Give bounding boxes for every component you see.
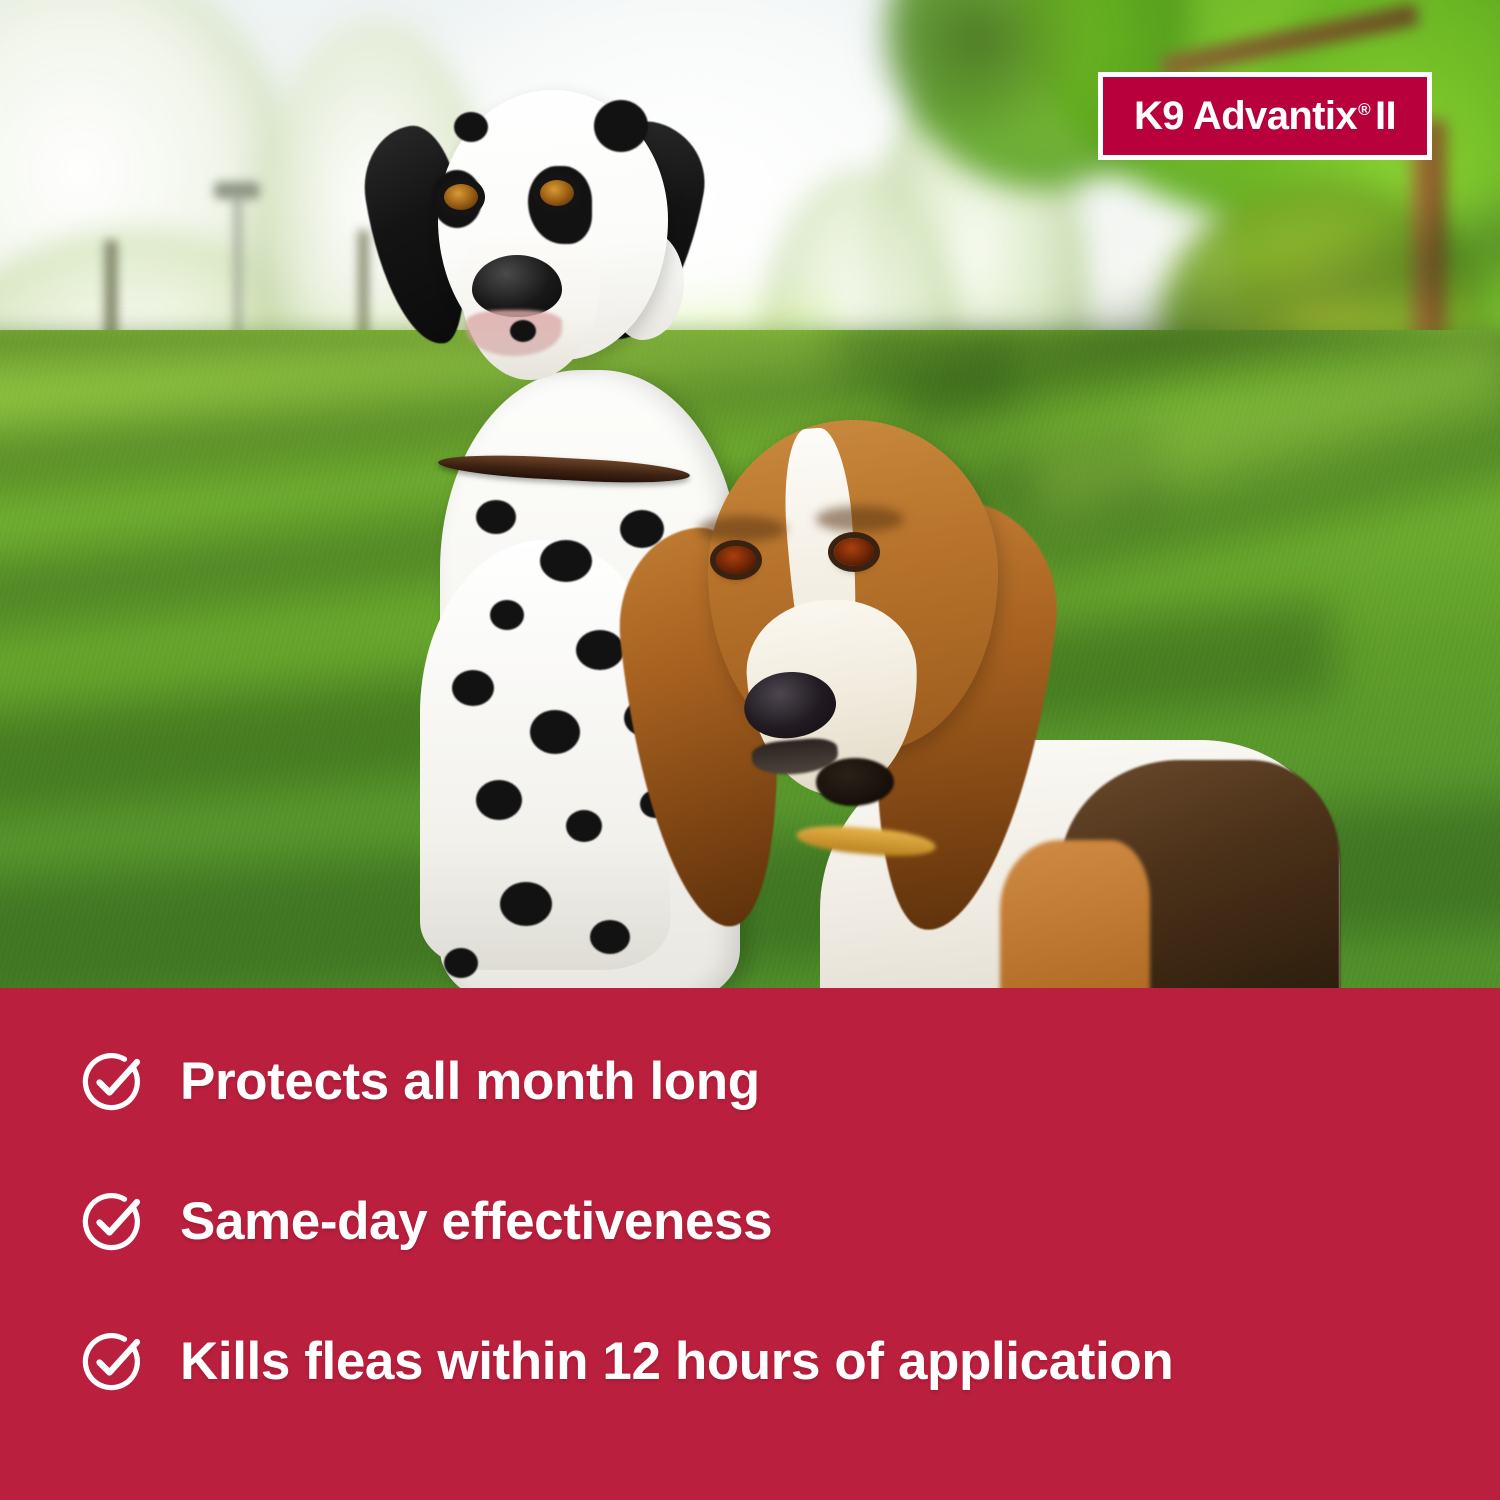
basset-brow-left bbox=[698, 516, 786, 542]
registered-trademark-icon: ® bbox=[1358, 100, 1370, 119]
dalmatian-spot bbox=[540, 540, 592, 582]
check-circle-icon bbox=[80, 1329, 146, 1395]
basset-body-tan-patch bbox=[1000, 840, 1150, 988]
dalmatian-eye-left bbox=[444, 184, 478, 210]
benefit-text: Protects all month long bbox=[180, 1054, 760, 1110]
dalmatian-head-spot bbox=[594, 100, 648, 152]
basset-brow-right bbox=[816, 506, 904, 532]
dalmatian-spot bbox=[566, 810, 602, 842]
dalmatian-muzzle-spot bbox=[510, 320, 536, 342]
dalmatian-eye-right bbox=[540, 180, 574, 206]
dalmatian-spot bbox=[576, 630, 624, 670]
brand-name: K9 Advantix bbox=[1134, 94, 1357, 138]
brand-logo-badge: K9 Advantix®II bbox=[1098, 72, 1432, 160]
brand-logo-text: K9 Advantix®II bbox=[1134, 96, 1396, 136]
dalmatian-spot bbox=[530, 710, 580, 754]
dalmatian-head-spot bbox=[454, 112, 488, 142]
dalmatian-spot bbox=[476, 780, 522, 820]
dalmatian-spot bbox=[500, 882, 552, 926]
benefit-text: Kills fleas within 12 hours of applicati… bbox=[180, 1334, 1173, 1390]
dalmatian-nose bbox=[472, 255, 562, 317]
benefit-item: Kills fleas within 12 hours of applicati… bbox=[80, 1292, 1480, 1432]
benefits-banner: Protects all month long Same-day effecti… bbox=[0, 988, 1500, 1500]
product-marketing-image: K9 Advantix®II Protects all month long bbox=[0, 0, 1500, 1500]
light-pole-lamp bbox=[214, 182, 260, 199]
dalmatian-spot bbox=[476, 500, 516, 534]
brand-version: II bbox=[1375, 94, 1396, 138]
basset-eye-right bbox=[834, 538, 874, 566]
basset-eye-left bbox=[716, 546, 756, 574]
benefit-item: Protects all month long bbox=[80, 1012, 1480, 1152]
dalmatian-spot bbox=[490, 600, 524, 630]
check-circle-icon bbox=[80, 1189, 146, 1255]
dalmatian-spot bbox=[444, 948, 478, 978]
benefit-text: Same-day effectiveness bbox=[180, 1194, 772, 1250]
benefit-item: Same-day effectiveness bbox=[80, 1152, 1480, 1292]
basset-hound-dog bbox=[620, 410, 1320, 988]
hero-photo: K9 Advantix®II bbox=[0, 0, 1500, 988]
benefits-list: Protects all month long Same-day effecti… bbox=[80, 1012, 1480, 1432]
dalmatian-spot bbox=[452, 670, 494, 706]
check-circle-icon bbox=[80, 1049, 146, 1115]
